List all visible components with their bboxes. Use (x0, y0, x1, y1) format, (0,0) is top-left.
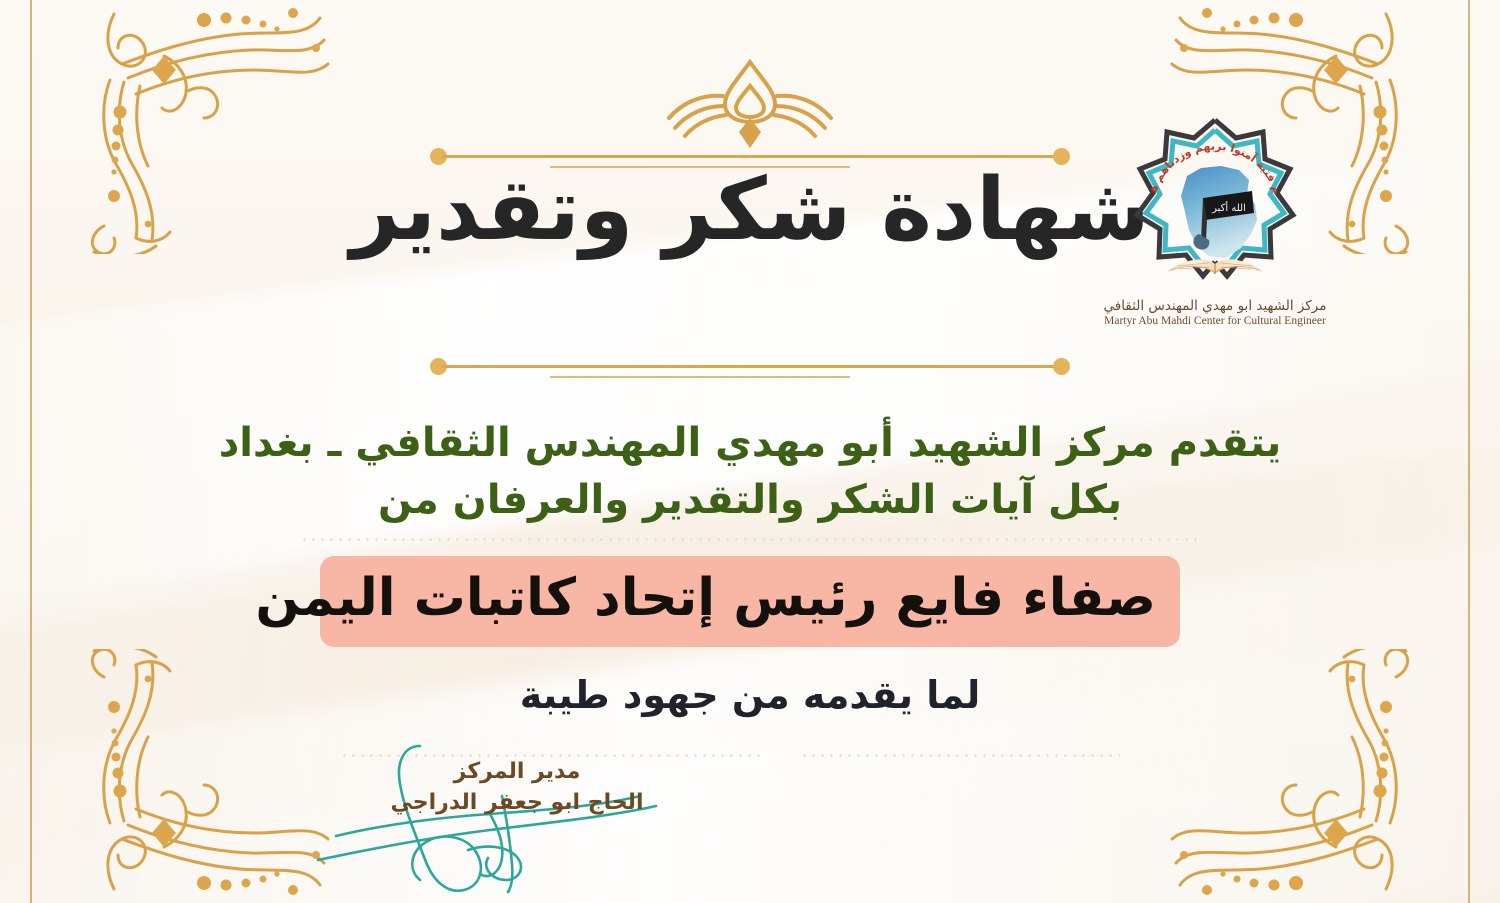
body-text: يتقدم مركز الشهيد أبو مهدي المهندس الثقا… (0, 415, 1500, 529)
svg-text:الله أكبر: الله أكبر (1211, 201, 1246, 214)
dotted-rule-signature-left (340, 754, 760, 757)
body-line-2: بكل آيات الشكر والتقدير والعرفان من (0, 472, 1500, 529)
crown-ornament (625, 46, 875, 151)
dotted-rule-signature-right (800, 754, 1120, 757)
body-line-1: يتقدم مركز الشهيد أبو مهدي المهندس الثقا… (0, 415, 1500, 472)
dotted-rule-body (300, 538, 1200, 541)
signature-role: مدير المركز (352, 758, 682, 787)
logo-name-arabic: مركز الشهيد ابو مهدي المهندس الثقافي (1090, 298, 1340, 314)
open-book-icon (1167, 259, 1263, 274)
divider-above-body (430, 355, 1070, 381)
divider-rule (442, 155, 1058, 158)
closing-text: لما يقدمه من جهود طيبة (0, 673, 1500, 717)
signature-block: مدير المركز الحاج ابو جعفر الدراجي (352, 758, 682, 817)
divider-cap-right (1053, 358, 1070, 375)
organization-logo: إنهم فتية آمنوا بربهم وزدناهم هدى الله أ… (1090, 112, 1340, 327)
signature-name: الحاج ابو جعفر الدراجي (352, 789, 682, 818)
recipient-name: صفاء فايع رئيس إتحاد كاتبات اليمن (344, 566, 1156, 631)
certificate-document: شهادة شكر وتقدير (0, 0, 1500, 903)
recipient-highlight-box: صفاء فايع رئيس إتحاد كاتبات اليمن (320, 556, 1180, 647)
divider-rule (442, 365, 1058, 368)
divider-rule-secondary (550, 376, 850, 378)
logo-name-english: Martyr Abu Mahdi Center for Cultural Eng… (1090, 315, 1340, 327)
